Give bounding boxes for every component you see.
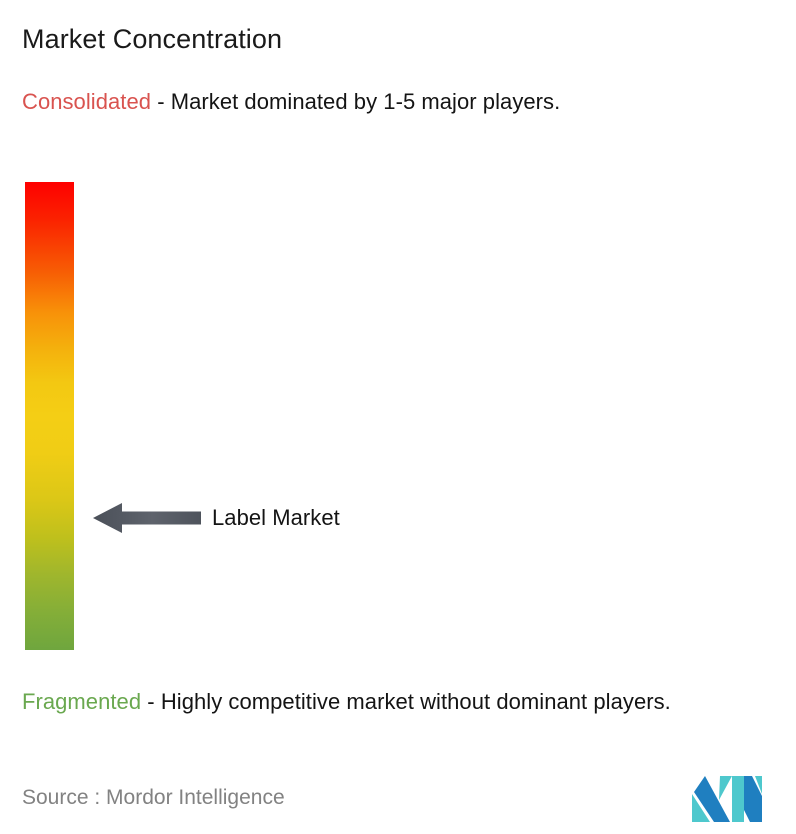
consolidated-legend-line: Consolidated - Market dominated by 1-5 m… bbox=[22, 86, 767, 117]
consolidated-keyword: Consolidated bbox=[22, 89, 151, 114]
consolidated-description: - Market dominated by 1-5 major players. bbox=[151, 89, 560, 114]
fragmented-legend-line: Fragmented - Highly competitive market w… bbox=[22, 686, 784, 717]
market-position-label: Label Market bbox=[212, 504, 340, 532]
concentration-gradient-bar bbox=[25, 182, 74, 650]
fragmented-description: - Highly competitive market without domi… bbox=[141, 689, 671, 714]
fragmented-keyword: Fragmented bbox=[22, 689, 141, 714]
page-title: Market Concentration bbox=[22, 22, 282, 56]
arrow-left-icon bbox=[93, 501, 201, 535]
mordor-intelligence-logo bbox=[692, 772, 762, 822]
market-concentration-chart: Market Concentration Consolidated - Mark… bbox=[0, 0, 796, 834]
footer: Source : Mordor Intelligence bbox=[22, 782, 774, 830]
source-attribution: Source : Mordor Intelligence bbox=[22, 784, 285, 812]
market-position-marker: Label Market bbox=[93, 498, 340, 538]
